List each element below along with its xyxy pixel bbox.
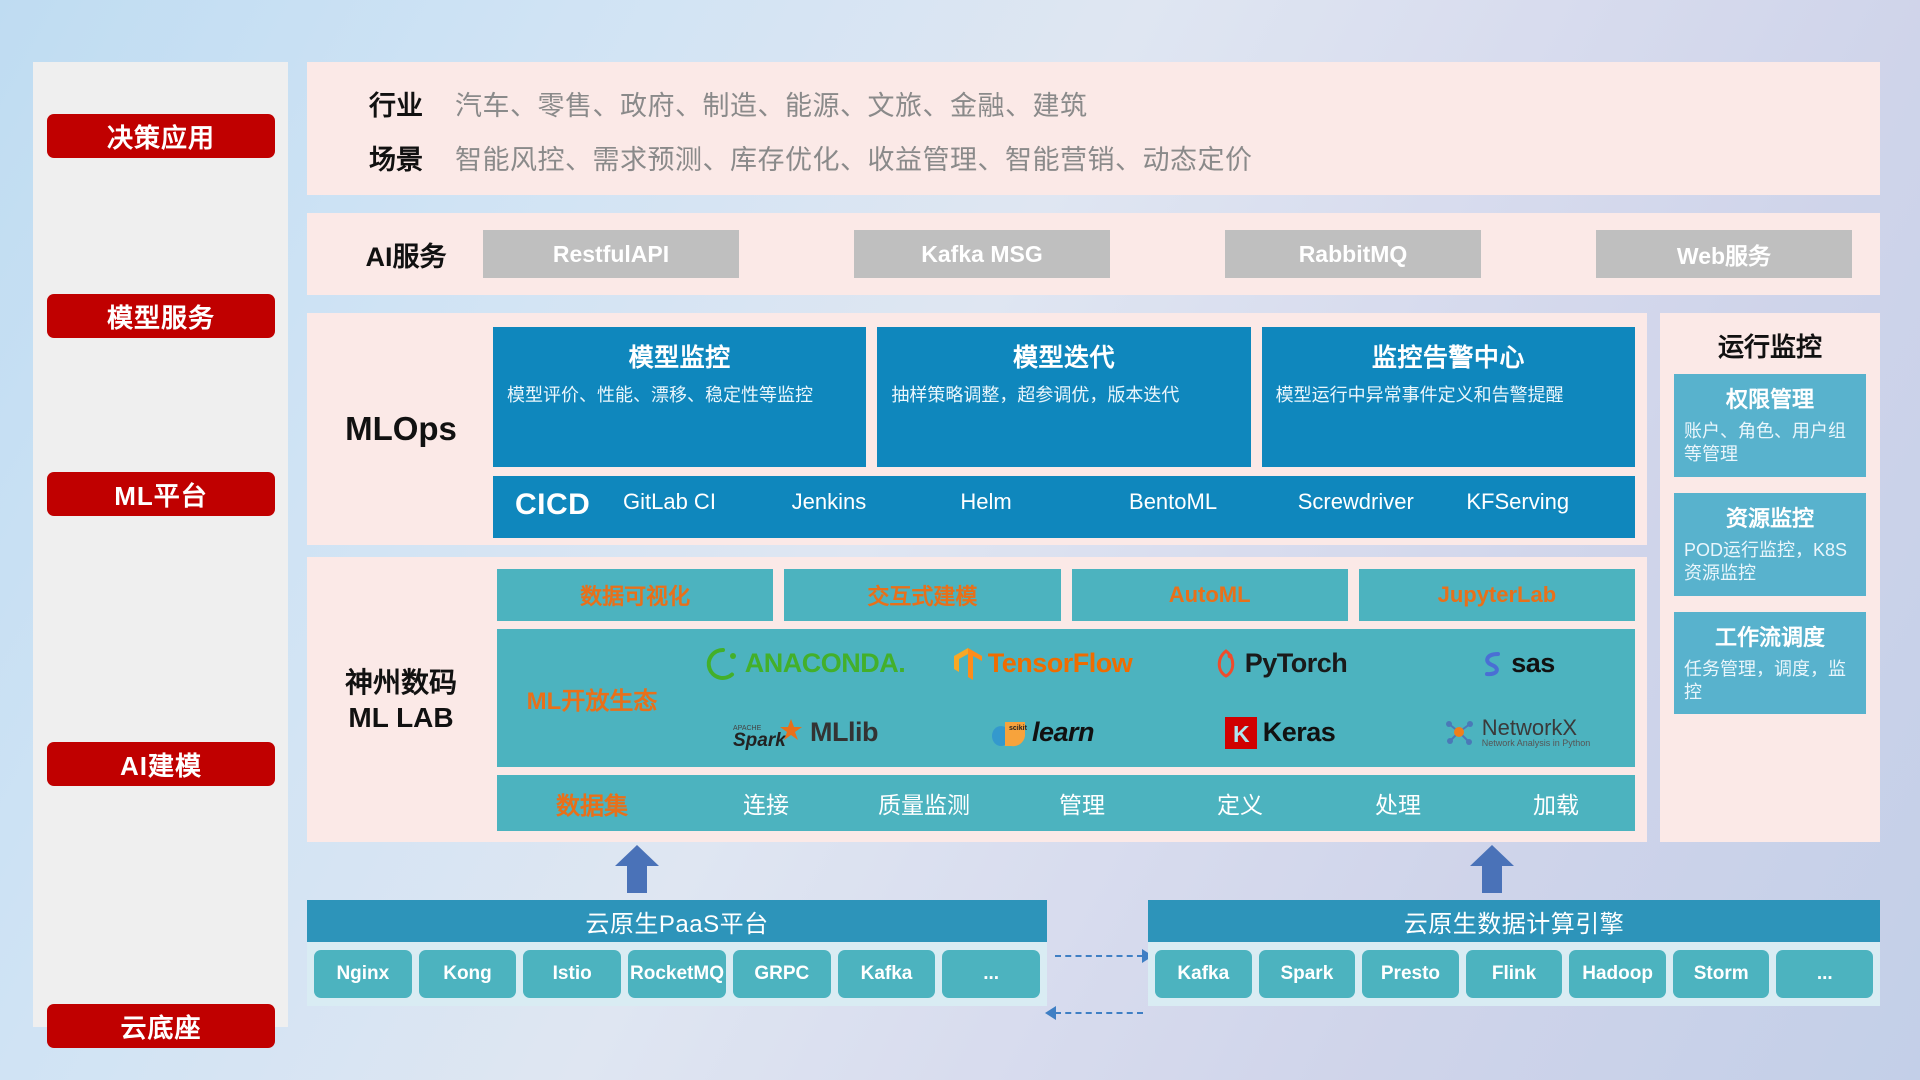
engine-chip-kafka[interactable]: Kafka [1155, 950, 1252, 998]
cicd-item-kfserving[interactable]: KFServing [1466, 476, 1635, 515]
industry-row: 行业 汽车、零售、政府、制造、能源、文旅、金融、建筑 [337, 84, 1088, 123]
mllab-label: 神州数码 ML LAB [311, 557, 491, 842]
service-layer-band: AI服务 RestfulAPI Kafka MSG RabbitMQ Web服务 [307, 213, 1880, 295]
monitoring-card-resource[interactable]: 资源监控 POD运行监控，K8S资源监控 [1674, 493, 1866, 596]
mlops-card-alert-center[interactable]: 监控告警中心 模型运行中异常事件定义和告警提醒 [1262, 327, 1635, 467]
monitoring-card-permission[interactable]: 权限管理 账户、角色、用户组等管理 [1674, 374, 1866, 477]
arrow-up-data-engine-icon [1470, 845, 1514, 893]
engine-chip-storm[interactable]: Storm [1673, 950, 1770, 998]
networkx-tagline: Network Analysis in Python [1482, 739, 1591, 748]
service-chip-web-service[interactable]: Web服务 [1596, 230, 1852, 278]
cloud-chip-rocketmq[interactable]: RocketMQ [628, 950, 726, 998]
keras-mark-icon: K [1224, 716, 1258, 750]
cicd-item-jenkins[interactable]: Jenkins [792, 476, 961, 515]
monitoring-card-workflow[interactable]: 工作流调度 任务管理，调度，监控 [1674, 612, 1866, 715]
anaconda-wordmark: ANACONDA. [745, 648, 906, 679]
card-title: 模型迭代 [891, 338, 1236, 374]
dataset-item-connect[interactable]: 连接 [687, 786, 845, 820]
card-desc: POD运行监控，K8S资源监控 [1684, 539, 1856, 586]
scikit-learn-wordmark: learn [1032, 717, 1094, 748]
card-desc: 模型评价、性能、漂移、稳定性等监控 [507, 383, 852, 407]
spark-mark-icon: APACHE Spark [733, 715, 805, 751]
stage-chip-ai-modeling[interactable]: AI建模 [47, 742, 275, 786]
pytorch-logo: PyTorch [1212, 647, 1348, 681]
cloud-data-engine-title: 云原生数据计算引擎 [1148, 900, 1880, 942]
ecosystem-label: ML开放生态 [497, 681, 687, 716]
cloud-chip-more-left[interactable]: ... [942, 950, 1040, 998]
cloud-data-engine-block: 云原生数据计算引擎 Kafka Spark Presto Flink Hadoo… [1148, 900, 1880, 1006]
mllab-label-line1: 神州数码 [345, 665, 457, 700]
arrow-up-paas-icon [615, 845, 659, 893]
dataset-bar: 数据集 连接 质量监测 管理 定义 处理 加载 [497, 775, 1635, 831]
card-title: 模型监控 [507, 338, 852, 374]
stage-label: 云底座 [120, 1008, 201, 1045]
ai-service-label: AI服务 [337, 213, 475, 295]
anaconda-logo: ANACONDA. [706, 647, 906, 681]
mlops-label: MLOps [317, 313, 485, 545]
mllab-chip-list: 数据可视化 交互式建模 AutoML JupyterLab [497, 569, 1635, 621]
mllab-chip-interactive-modeling[interactable]: 交互式建模 [784, 569, 1060, 621]
ecosystem-logo-grid: ANACONDA. TensorFlow PyTorch [687, 629, 1635, 767]
tensorflow-wordmark: TensorFlow [988, 648, 1133, 679]
mllab-label-line2: ML LAB [348, 700, 453, 735]
cicd-item-bentoml[interactable]: BentoML [1129, 476, 1298, 515]
industry-list: 汽车、零售、政府、制造、能源、文旅、金融、建筑 [455, 84, 1088, 123]
mllab-chip-jupyterlab[interactable]: JupyterLab [1359, 569, 1635, 621]
mllab-chip-data-visualization[interactable]: 数据可视化 [497, 569, 773, 621]
card-desc: 抽样策略调整，超参调优，版本迭代 [891, 383, 1236, 407]
stage-label: ML平台 [114, 476, 208, 513]
service-chip-restfulapi[interactable]: RestfulAPI [483, 230, 739, 278]
cicd-item-gitlab-ci[interactable]: GitLab CI [623, 476, 792, 515]
service-chip-kafka-msg[interactable]: Kafka MSG [854, 230, 1110, 278]
dataset-item-manage[interactable]: 管理 [1003, 786, 1161, 820]
stage-label: AI建模 [120, 746, 202, 783]
dataset-item-quality-monitor[interactable]: 质量监测 [845, 786, 1003, 820]
dataset-item-define[interactable]: 定义 [1161, 786, 1319, 820]
cloud-chip-kong[interactable]: Kong [419, 950, 517, 998]
stage-chip-model-service[interactable]: 模型服务 [47, 294, 275, 338]
card-desc: 任务管理，调度，监控 [1684, 658, 1856, 705]
dataset-title: 数据集 [497, 786, 687, 821]
pytorch-wordmark: PyTorch [1245, 648, 1348, 679]
dataset-item-process[interactable]: 处理 [1319, 786, 1477, 820]
svg-text:Spark: Spark [733, 730, 787, 751]
cloud-chip-kafka[interactable]: Kafka [838, 950, 936, 998]
scenario-label: 场景 [337, 138, 455, 177]
mllab-layer-band: 神州数码 ML LAB 数据可视化 交互式建模 AutoML JupyterLa… [307, 557, 1647, 842]
scenario-row: 场景 智能风控、需求预测、库存优化、收益管理、智能营销、动态定价 [337, 138, 1253, 177]
card-title: 工作流调度 [1684, 620, 1856, 652]
dashed-connector-left [1055, 1012, 1143, 1014]
svg-text:scikit: scikit [1009, 725, 1027, 732]
spark-mllib-logo: APACHE Spark MLlib [733, 715, 878, 751]
cloud-data-engine-chip-list: Kafka Spark Presto Flink Hadoop Storm ..… [1148, 942, 1880, 1006]
stage-label: 决策应用 [107, 118, 215, 155]
card-title: 资源监控 [1684, 501, 1856, 533]
tensorflow-logo: TensorFlow [953, 647, 1133, 681]
industry-label: 行业 [337, 84, 455, 123]
monitoring-panel-title: 运行监控 [1660, 313, 1880, 374]
card-title: 权限管理 [1684, 382, 1856, 414]
service-chip-rabbitmq[interactable]: RabbitMQ [1225, 230, 1481, 278]
cicd-title: CICD [493, 476, 623, 522]
pytorch-mark-icon [1212, 647, 1240, 681]
engine-chip-flink[interactable]: Flink [1466, 950, 1563, 998]
ecosystem-block: ML开放生态 ANACONDA. TensorFlow [497, 629, 1635, 767]
cloud-chip-istio[interactable]: Istio [523, 950, 621, 998]
monitoring-panel: 运行监控 权限管理 账户、角色、用户组等管理 资源监控 POD运行监控，K8S资… [1660, 313, 1880, 842]
dataset-item-load[interactable]: 加载 [1477, 786, 1635, 820]
service-chip-list: RestfulAPI Kafka MSG RabbitMQ Web服务 [483, 213, 1852, 295]
scenario-list: 智能风控、需求预测、库存优化、收益管理、智能营销、动态定价 [455, 138, 1253, 177]
cloud-paas-block: 云原生PaaS平台 Nginx Kong Istio RocketMQ GRPC… [307, 900, 1047, 1006]
scikit-mark-icon: scikit [991, 716, 1027, 750]
keras-logo: K Keras [1224, 716, 1336, 750]
card-title: 监控告警中心 [1276, 338, 1621, 374]
mlops-card-model-iteration[interactable]: 模型迭代 抽样策略调整，超参调优，版本迭代 [877, 327, 1250, 467]
mllib-wordmark: MLlib [810, 717, 878, 748]
mlops-card-model-monitoring[interactable]: 模型监控 模型评价、性能、漂移、稳定性等监控 [493, 327, 866, 467]
anaconda-mark-icon [706, 647, 740, 681]
mllab-chip-automl[interactable]: AutoML [1072, 569, 1348, 621]
engine-chip-spark[interactable]: Spark [1259, 950, 1356, 998]
card-desc: 账户、角色、用户组等管理 [1684, 420, 1856, 467]
cicd-item-screwdriver[interactable]: Screwdriver [1298, 476, 1467, 515]
networkx-logo: NetworkX Network Analysis in Python [1443, 716, 1591, 750]
scikit-learn-logo: scikit learn [991, 716, 1094, 750]
card-desc: 模型运行中异常事件定义和告警提醒 [1276, 383, 1621, 407]
dashed-connector-right [1055, 955, 1143, 957]
cloud-chip-nginx[interactable]: Nginx [314, 950, 412, 998]
engine-chip-more-right[interactable]: ... [1776, 950, 1873, 998]
engine-chip-presto[interactable]: Presto [1362, 950, 1459, 998]
stage-column: 决策应用 模型服务 ML平台 AI建模 云底座 [33, 62, 288, 1027]
networkx-mark-icon [1443, 716, 1477, 750]
sas-logo: sas [1478, 648, 1555, 680]
cicd-bar: CICD GitLab CI Jenkins Helm BentoML Scre… [493, 476, 1635, 538]
sas-mark-icon [1478, 648, 1506, 680]
cloud-paas-title: 云原生PaaS平台 [307, 900, 1047, 942]
keras-wordmark: Keras [1263, 717, 1336, 748]
svg-text:K: K [1233, 721, 1250, 747]
cloud-paas-chip-list: Nginx Kong Istio RocketMQ GRPC Kafka ... [307, 942, 1047, 1006]
sas-wordmark: sas [1511, 648, 1555, 679]
mlops-layer-band: MLOps 模型监控 模型评价、性能、漂移、稳定性等监控 模型迭代 抽样策略调整… [307, 313, 1647, 545]
architecture-diagram: 决策应用 模型服务 ML平台 AI建模 云底座 行业 汽车、零售、政府、制造、能… [0, 0, 1920, 1080]
stage-chip-decision-app[interactable]: 决策应用 [47, 114, 275, 158]
mlops-card-list: 模型监控 模型评价、性能、漂移、稳定性等监控 模型迭代 抽样策略调整，超参调优，… [493, 327, 1635, 467]
stage-chip-cloud-base[interactable]: 云底座 [47, 1004, 275, 1048]
networkx-wordmark: NetworkX [1482, 717, 1591, 739]
tensorflow-mark-icon [953, 647, 983, 681]
cloud-chip-grpc[interactable]: GRPC [733, 950, 831, 998]
engine-chip-hadoop[interactable]: Hadoop [1569, 950, 1666, 998]
stage-chip-ml-platform[interactable]: ML平台 [47, 472, 275, 516]
application-layer-band: 行业 汽车、零售、政府、制造、能源、文旅、金融、建筑 场景 智能风控、需求预测、… [307, 62, 1880, 195]
stage-label: 模型服务 [107, 298, 215, 335]
cicd-item-helm[interactable]: Helm [960, 476, 1129, 515]
